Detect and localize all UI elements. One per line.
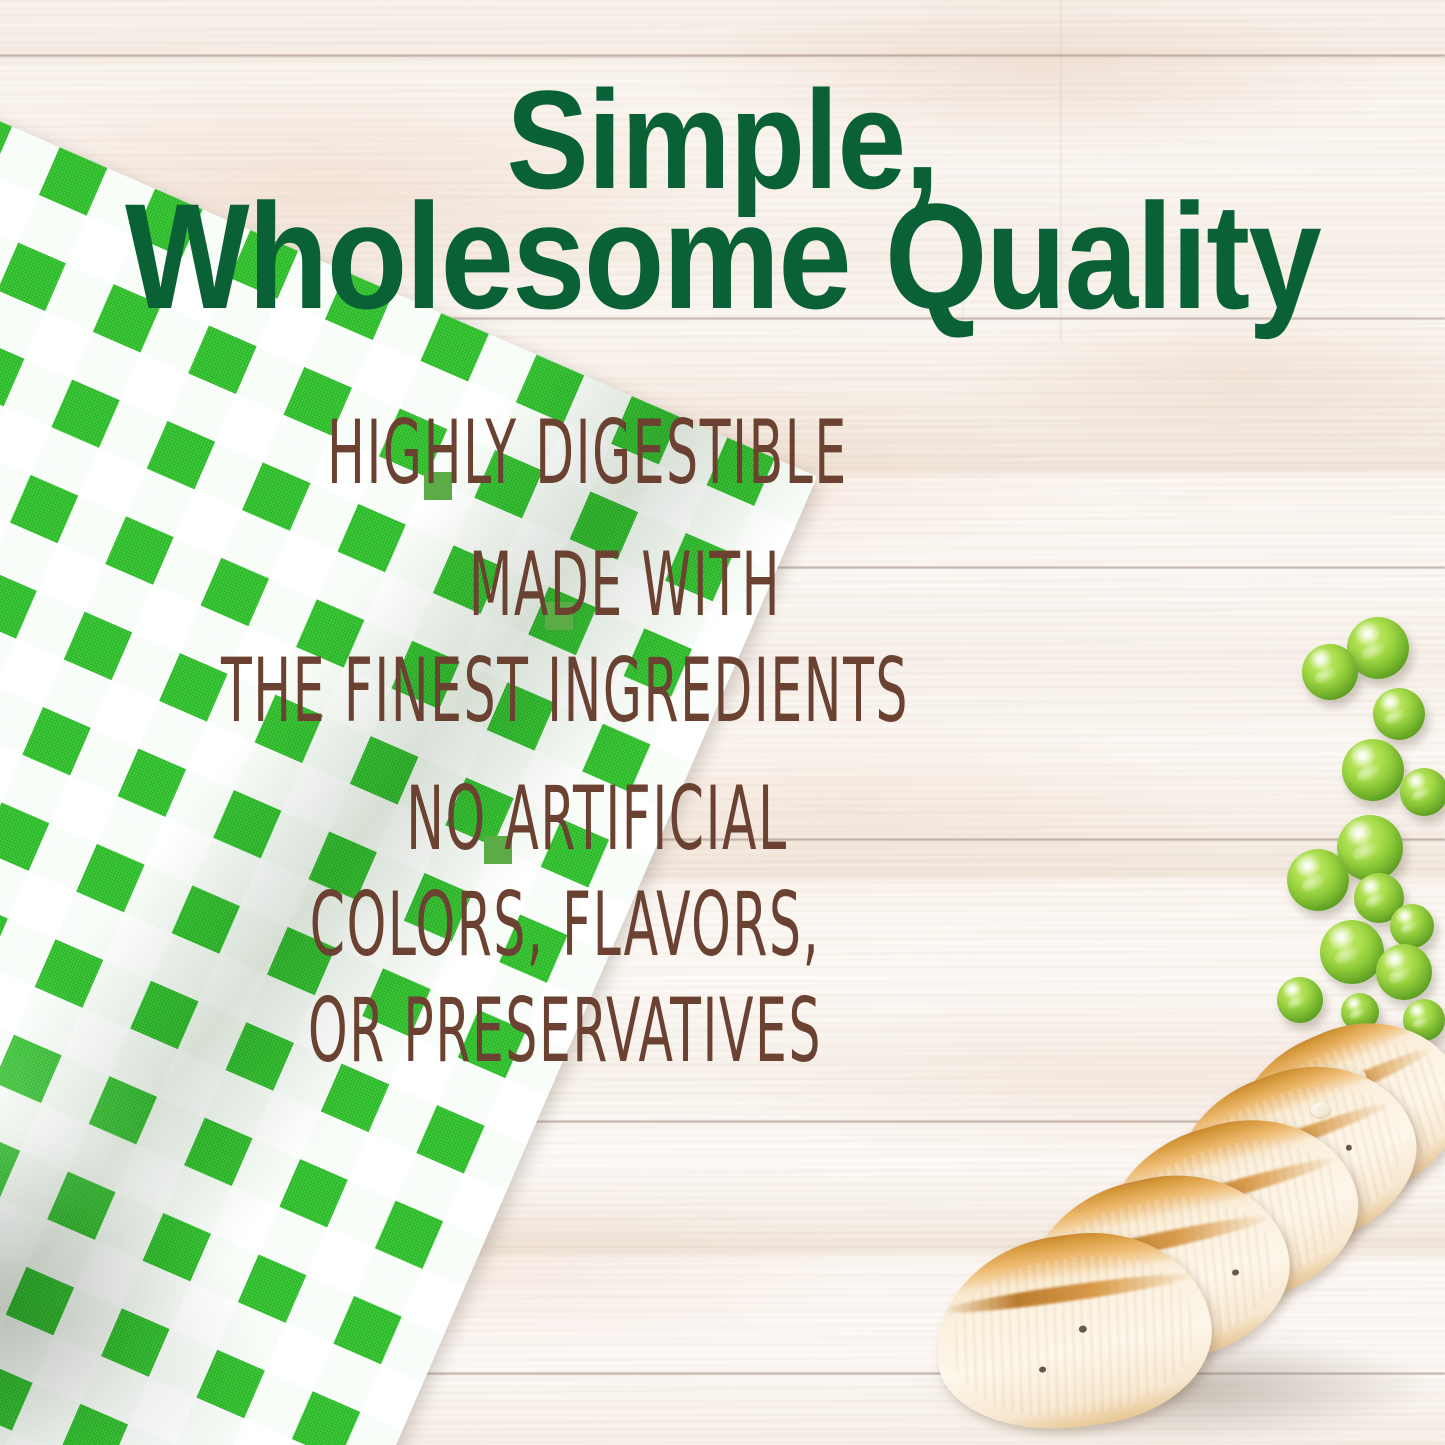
list-item: MADE WITH THE FINEST INGREDIENTS [0,550,1130,726]
pea [1320,920,1384,984]
pea [1376,944,1432,1000]
bullet-line: COLORS, FLAVORS, [113,881,1017,969]
grilled-chicken-slices [895,1021,1445,1445]
pea [1390,904,1434,948]
plank-seam [0,54,1445,57]
bullet-line: OR PRESERVATIVES [113,987,1017,1075]
pea [1277,977,1323,1023]
bullet-line: THE FINEST INGREDIENTS [113,647,1017,735]
pea [1400,768,1445,816]
pea [1342,739,1404,801]
pea [1302,644,1358,700]
list-item: HIGHLY DIGESTIBLE [0,418,1130,488]
bullet-line: NO ARTIFICIAL [113,775,1017,863]
feature-bullet-list: HIGHLY DIGESTIBLE MADE WITH THE FINEST I… [0,418,1130,1106]
page-title: Simple, Wholesome Quality [87,84,1359,316]
bullet-line: HIGHLY DIGESTIBLE [113,409,1017,497]
pea [1287,849,1349,911]
bullet-line: MADE WITH [113,541,1017,629]
product-feature-banner: Simple, Wholesome Quality HIGHLY DIGESTI… [0,0,1445,1445]
pea [1373,688,1425,740]
headline-line-2: Wholesome Quality [87,196,1359,316]
